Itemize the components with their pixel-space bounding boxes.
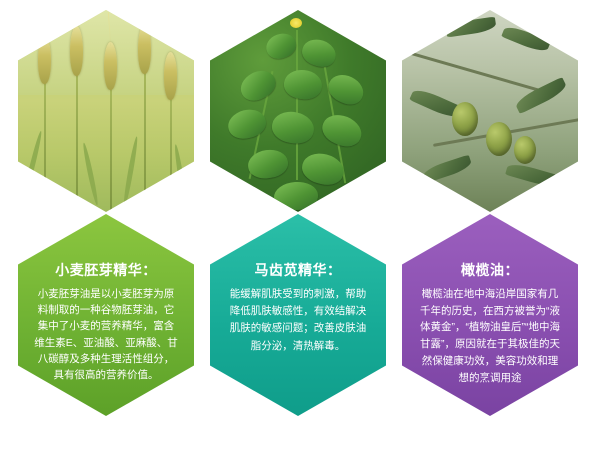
wheat-awn	[40, 10, 45, 40]
purslane-leaf	[273, 180, 319, 211]
olive-oil-text-hexagon: 橄榄油： 橄榄油在地中海沿岸国家有几千年的历史，在西方被誉为“液体黄金”，“植物…	[402, 214, 578, 416]
wheat-stalk	[110, 86, 112, 212]
wheat-ear	[38, 36, 51, 84]
wheat-illustration	[18, 10, 194, 212]
wheat-stalk	[144, 68, 146, 212]
purslane-leaf	[283, 68, 324, 101]
wheat-blade	[22, 130, 44, 199]
olive-fruit	[452, 102, 478, 136]
card-body: 能缓解肌肤受到的刺激，帮助降低肌肤敏感性，有效结解决肌肤的敏感问题；改善皮肤油脂…	[226, 286, 370, 355]
purslane-leaf	[263, 30, 299, 63]
ingredient-card-olive-oil: 橄榄油： 橄榄油在地中海沿岸国家有几千年的历史，在西方被誉为“液体黄金”，“植物…	[402, 10, 578, 416]
purslane-stem	[296, 30, 298, 180]
purslane-flower	[290, 18, 302, 28]
wheat-field-photo	[18, 10, 194, 212]
card-title: 马齿苋精华：	[255, 262, 342, 279]
purslane-leaf	[270, 109, 317, 147]
olive-leaf	[421, 155, 473, 184]
wheat-germ-text-hexagon: 小麦胚芽精华： 小麦胚芽油是以小麦胚芽为原料制取的一种谷物胚芽油，它集中了小麦的…	[18, 214, 194, 416]
wheat-ear	[138, 24, 151, 74]
purslane-leaf	[236, 65, 280, 106]
purslane-leaf	[246, 147, 290, 180]
olive-leaf	[505, 161, 559, 189]
olive-branch-photo	[402, 10, 578, 212]
wheat-stalk	[170, 96, 172, 212]
card-title: 小麦胚芽精华：	[55, 262, 157, 279]
purslane-leaf	[299, 35, 339, 70]
olive-leaf	[445, 17, 496, 38]
olive-fruit	[486, 122, 512, 156]
wheat-ear	[164, 52, 177, 100]
olive-illustration	[402, 10, 578, 212]
olive-leaf	[405, 20, 450, 54]
purslane-illustration	[210, 10, 386, 212]
card-body: 橄榄油在地中海沿岸国家有几千年的历史，在西方被誉为“液体黄金”，“植物油皇后”“…	[418, 286, 562, 387]
olive-branch	[402, 47, 540, 91]
card-body: 小麦胚芽油是以小麦胚芽为原料制取的一种谷物胚芽油，它集中了小麦的营养精华，富含维…	[34, 286, 178, 384]
wheat-blade	[122, 136, 139, 208]
wheat-ear	[104, 42, 117, 90]
wheat-blade	[81, 142, 99, 206]
purslane-plant-photo	[210, 10, 386, 212]
purslane-text-hexagon: 马齿苋精华： 能缓解肌肤受到的刺激，帮助降低肌肤敏感性，有效结解决肌肤的敏感问题…	[210, 214, 386, 416]
product-ingredients-poster: 小麦胚芽精华： 小麦胚芽油是以小麦胚芽为原料制取的一种谷物胚芽油，它集中了小麦的…	[0, 0, 600, 465]
card-title: 橄榄油：	[461, 262, 519, 279]
ingredient-card-purslane-essence: 马齿苋精华： 能缓解肌肤受到的刺激，帮助降低肌肤敏感性，有效结解决肌肤的敏感问题…	[210, 10, 386, 416]
purslane-leaf	[318, 110, 366, 152]
wheat-ear	[70, 26, 83, 76]
wheat-blade	[173, 144, 188, 206]
olive-fruit	[514, 136, 536, 164]
olive-leaf	[501, 24, 551, 55]
wheat-stalk	[44, 80, 46, 212]
olive-leaf	[513, 77, 568, 114]
wheat-stalk	[76, 70, 78, 212]
ingredient-card-wheat-germ-essence: 小麦胚芽精华： 小麦胚芽油是以小麦胚芽为原料制取的一种谷物胚芽油，它集中了小麦的…	[18, 10, 194, 416]
wheat-awn	[142, 10, 146, 28]
